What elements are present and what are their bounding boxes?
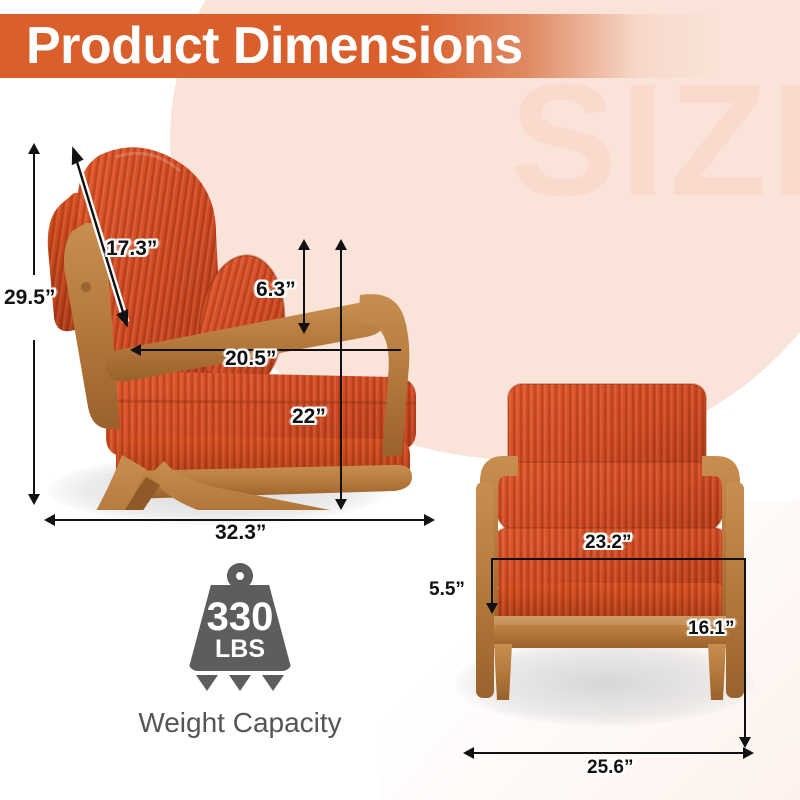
dim-line-cushion-height xyxy=(491,558,493,604)
dim-arrow-overall-height-top xyxy=(28,143,40,154)
dim-line-seat-width xyxy=(491,558,744,560)
dim-arrow-overall-depth-bottom xyxy=(335,499,347,510)
dim-arrow-arm-gap-bottom xyxy=(298,323,310,334)
dim-line-seat-height xyxy=(744,558,746,738)
dim-label-overall-width: 25.6” xyxy=(587,757,633,779)
weight-capacity-caption: Weight Capacity xyxy=(110,707,370,739)
dim-label-seat-width: 23.2” xyxy=(585,532,631,554)
weight-arrow-3 xyxy=(262,675,284,691)
weight-capacity-block: 330 LBS Weight Capacity xyxy=(110,563,370,739)
weight-icon: 330 LBS xyxy=(180,563,300,671)
dim-line-overall-height-upper xyxy=(33,150,35,275)
dim-arrow-overall-height-bottom xyxy=(28,494,40,505)
dim-label-overall-depth: 22” xyxy=(292,405,326,429)
dim-arrow-seat-depth-left xyxy=(130,344,141,356)
dim-arrow-overall-length-left xyxy=(44,514,55,526)
dim-label-overall-length: 32.3” xyxy=(215,521,266,545)
dim-line-overall-width xyxy=(472,752,744,754)
dim-arrow-overall-width-left xyxy=(463,747,474,759)
weight-capacity-unit: LBS xyxy=(180,637,300,662)
dim-line-overall-depth xyxy=(340,246,342,500)
dim-line-arm-gap xyxy=(303,246,305,324)
weight-arrow-2 xyxy=(229,675,251,691)
dim-label-overall-height: 29.5” xyxy=(4,286,55,310)
dim-arrow-overall-depth-top xyxy=(335,239,347,250)
infographic-canvas: SIZE Product Dimensions xyxy=(0,0,800,800)
weight-arrows-group xyxy=(180,675,300,697)
dim-arrow-overall-width-right xyxy=(743,747,754,759)
dim-label-arm-gap: 6.3” xyxy=(256,278,296,302)
dim-arrow-cushion-height-bottom xyxy=(486,603,498,614)
weight-capacity-number: 330 xyxy=(180,597,300,637)
page-title: Product Dimensions xyxy=(26,14,523,78)
dim-line-overall-height-lower xyxy=(33,340,35,495)
dim-label-seat-depth: 20.5” xyxy=(225,347,276,371)
weight-arrow-1 xyxy=(196,675,218,691)
dim-arrow-arm-gap-top xyxy=(298,239,310,250)
dim-label-cushion-height: 5.5” xyxy=(429,579,465,601)
dim-label-seat-height: 16.1” xyxy=(688,618,734,640)
dim-arrow-overall-length-right xyxy=(424,514,435,526)
dim-label-backrest-height: 17.3” xyxy=(106,237,157,261)
size-watermark: SIZE xyxy=(510,60,800,220)
